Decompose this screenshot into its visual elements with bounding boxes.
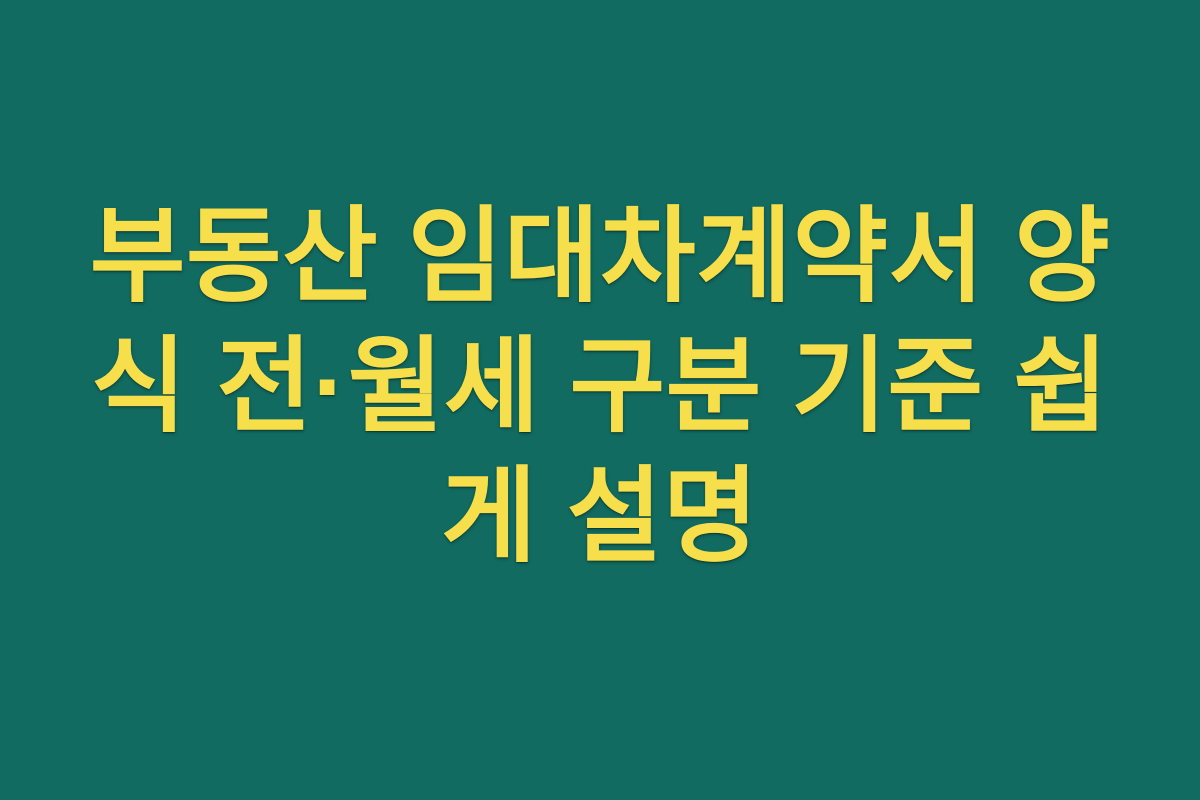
title-card: 부동산 임대차계약서 양 식 전·월세 구분 기준 쉽 게 설명 <box>0 0 1200 800</box>
title-line-1: 부동산 임대차계약서 양 <box>70 192 1130 322</box>
title-line-3: 게 설명 <box>70 452 1130 582</box>
page-title: 부동산 임대차계약서 양 식 전·월세 구분 기준 쉽 게 설명 <box>70 192 1130 582</box>
title-line-2: 식 전·월세 구분 기준 쉽 <box>70 322 1130 452</box>
